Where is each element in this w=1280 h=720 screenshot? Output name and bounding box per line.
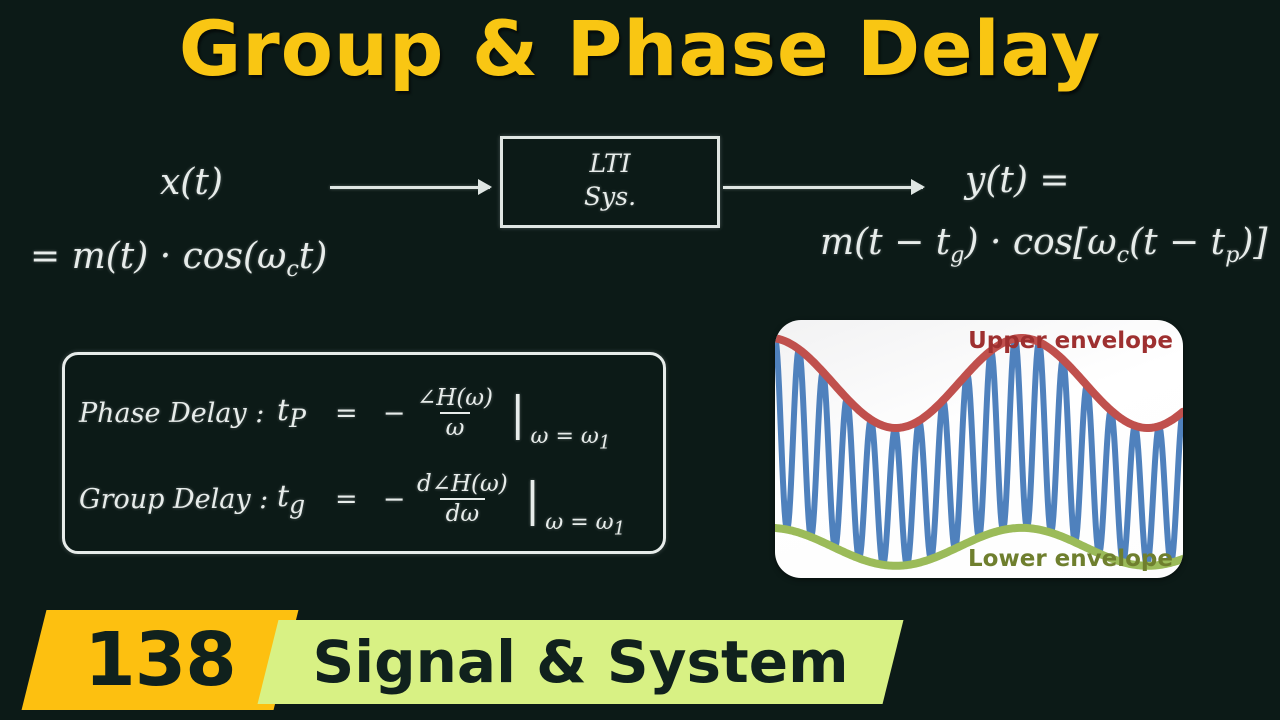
lti-system-block: LTI Sys. xyxy=(500,136,720,228)
phase-delay-numerator: ∠H(ω) xyxy=(411,385,499,412)
group-delay-formula: Group Delay : tg = − d∠H(ω) dω | ω = ω1 xyxy=(65,455,663,543)
envelope-figure-svg xyxy=(775,320,1183,578)
group-delay-symbol: tg xyxy=(277,479,335,519)
phase-delay-fraction: ∠H(ω) ω xyxy=(411,385,499,442)
phase-delay-equals: = xyxy=(335,398,377,429)
delay-formula-box: Phase Delay : tP = − ∠H(ω) ω | ω = ω1 Gr… xyxy=(62,352,666,554)
lti-system-label: LTI Sys. xyxy=(503,147,717,213)
group-delay-evaluation-bar: | xyxy=(525,481,541,518)
output-signal-equation: m(t − tg) · cos[ωc(t − tp)] xyxy=(820,222,1267,268)
upper-envelope-label: Upper envelope xyxy=(968,328,1173,354)
course-name-text: Signal & System xyxy=(268,620,893,704)
phase-delay-condition: ω = ω1 xyxy=(531,424,611,457)
group-delay-minus: − xyxy=(377,484,411,515)
group-delay-equals: = xyxy=(335,484,377,515)
group-delay-condition: ω = ω1 xyxy=(545,510,625,543)
arrow-output-icon xyxy=(723,186,923,189)
slide-canvas: Group & Phase Delay x(t) = m(t) · cos(ωc… xyxy=(0,0,1280,720)
lecture-number-text: 138 xyxy=(34,610,286,710)
group-delay-name: Group Delay : xyxy=(65,484,277,515)
phase-delay-minus: − xyxy=(377,398,411,429)
phase-delay-denominator: ω xyxy=(440,412,471,441)
phase-delay-symbol: tP xyxy=(277,393,335,433)
output-signal-label: y(t) = xyxy=(965,160,1070,201)
group-delay-numerator: d∠H(ω) xyxy=(411,471,514,498)
phase-delay-name: Phase Delay : xyxy=(65,398,277,429)
phase-delay-evaluation-bar: | xyxy=(510,395,526,432)
page-title: Group & Phase Delay xyxy=(0,4,1280,93)
input-signal-equation: = m(t) · cos(ωct) xyxy=(30,236,327,282)
arrow-input-icon xyxy=(330,186,490,189)
bottom-banner: 138 Signal & System xyxy=(0,602,1280,720)
envelope-figure-panel: Upper envelope Lower envelope xyxy=(775,320,1183,578)
lower-envelope-label: Lower envelope xyxy=(968,546,1173,572)
phase-delay-formula: Phase Delay : tP = − ∠H(ω) ω | ω = ω1 xyxy=(65,369,663,457)
group-delay-denominator: dω xyxy=(440,498,485,527)
group-delay-fraction: d∠H(ω) dω xyxy=(411,471,514,528)
carrier-waveform xyxy=(775,338,1182,565)
input-signal-label: x(t) xyxy=(160,162,223,203)
